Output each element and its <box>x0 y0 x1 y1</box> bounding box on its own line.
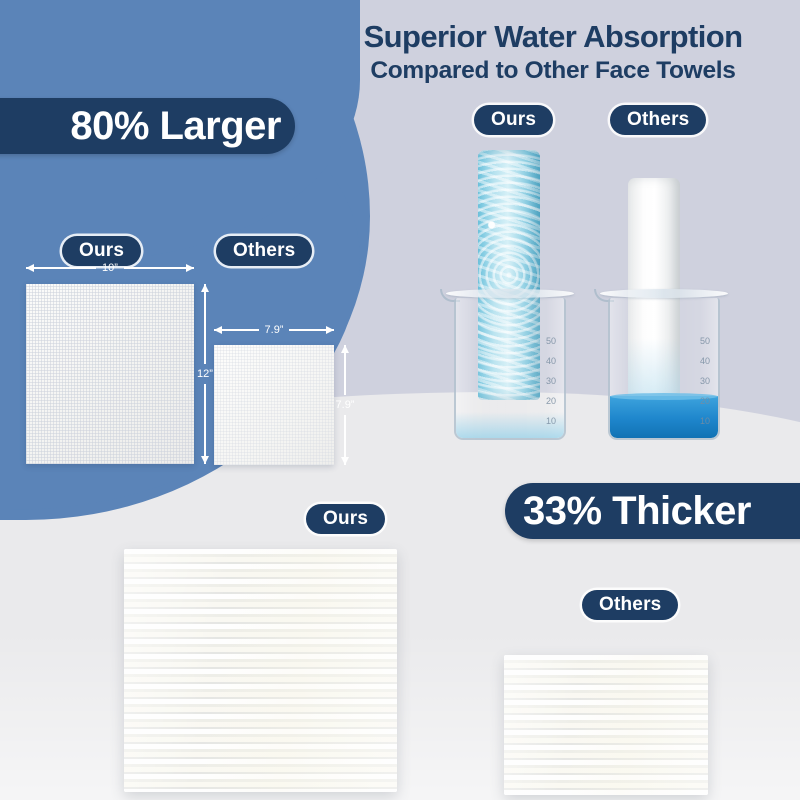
graduation-mark: 50 <box>546 337 556 346</box>
graduation-mark: 30 <box>546 377 556 386</box>
graduation-mark: 10 <box>546 417 556 426</box>
beaker-graduations-ours: 10 20 30 40 50 <box>546 337 556 426</box>
page-title: Superior Water Absorption Compared to Ot… <box>318 20 788 84</box>
dimension-others-height: 7.9” <box>330 345 360 465</box>
dimension-ours-width-label: 10” <box>96 262 124 274</box>
graduation-mark: 40 <box>700 357 710 366</box>
beaker-ours: 10 20 30 40 50 <box>454 298 566 440</box>
arrow-up-icon <box>344 345 346 395</box>
beaker-others: 10 20 30 40 50 <box>608 298 720 440</box>
towel-stack-others <box>504 655 708 795</box>
dimension-ours-width: 10” <box>26 260 194 276</box>
product-comparison-infographic: Superior Water Absorption Compared to Ot… <box>0 0 800 800</box>
arrow-left-icon <box>26 267 96 269</box>
thickness-label-ours: Ours <box>306 504 385 534</box>
dimension-others-height-label: 7.9” <box>336 395 355 415</box>
graduation-mark: 20 <box>700 397 710 406</box>
dimension-others-width-label: 7.9” <box>259 324 290 336</box>
graduation-mark: 30 <box>700 377 710 386</box>
towel-stack-ours <box>124 549 397 792</box>
arrow-down-icon <box>344 415 346 465</box>
dimension-others-width: 7.9” <box>214 322 334 338</box>
size-label-others: Others <box>216 236 312 266</box>
graduation-mark: 20 <box>546 397 556 406</box>
graduation-mark: 40 <box>546 357 556 366</box>
headline-line-2: Compared to Other Face Towels <box>318 57 788 84</box>
dimension-ours-height-label: 12” <box>197 364 213 384</box>
dimension-ours-height: 12” <box>190 284 220 464</box>
arrow-right-icon <box>289 329 334 331</box>
beaker-scene-ours: 10 20 30 40 50 <box>438 150 588 440</box>
headline-line-1: Superior Water Absorption <box>318 20 788 55</box>
absorption-label-ours: Ours <box>474 105 553 135</box>
beaker-scene-others: 10 20 30 40 50 <box>592 150 742 440</box>
absorption-label-others: Others <box>610 105 706 135</box>
beaker-graduations-others: 10 20 30 40 50 <box>700 337 710 426</box>
badge-80-percent-larger: 80% Larger <box>0 98 295 154</box>
thickness-label-others: Others <box>582 590 678 620</box>
graduation-mark: 10 <box>700 417 710 426</box>
arrow-up-icon <box>204 284 206 364</box>
beaker-rim-others <box>600 289 728 298</box>
towel-swatch-others <box>214 345 334 465</box>
graduation-mark: 50 <box>700 337 710 346</box>
beaker-rim-ours <box>446 289 574 298</box>
arrow-down-icon <box>204 384 206 464</box>
arrow-right-icon <box>124 267 194 269</box>
badge-33-percent-thicker: 33% Thicker <box>505 483 800 539</box>
arrow-left-icon <box>214 329 259 331</box>
towel-swatch-ours <box>26 284 194 464</box>
